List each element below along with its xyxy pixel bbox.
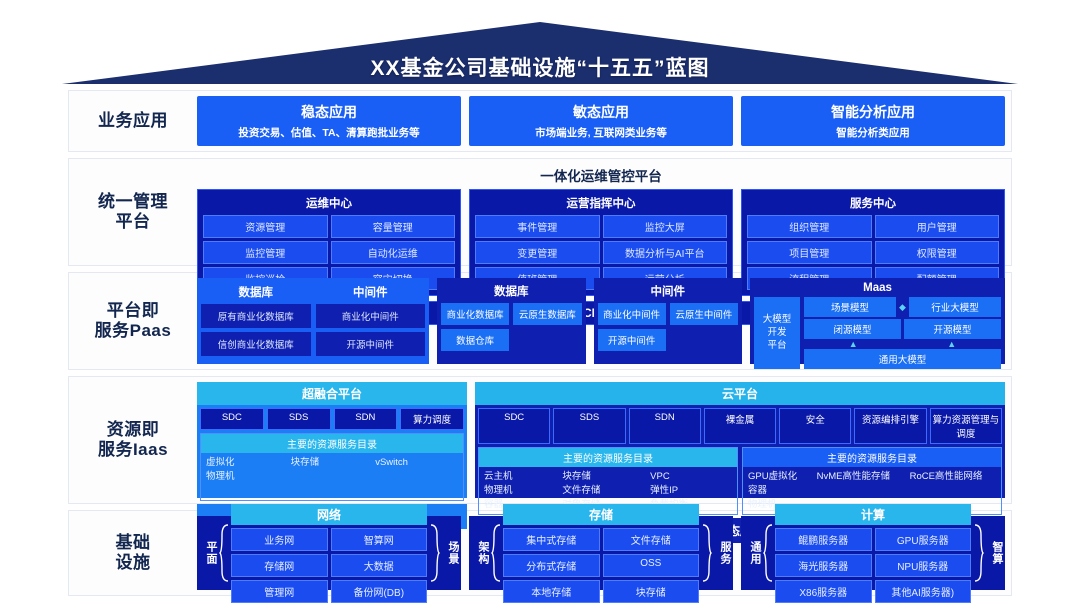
- infra-cells: 集中式存储 文件存储 分布式存储 OSS 本地存储 块存储: [503, 528, 699, 603]
- capability-sds[interactable]: SDS: [553, 408, 625, 444]
- capability-sdn[interactable]: SDN: [629, 408, 701, 444]
- row-label-management: 统一管理 平台: [69, 164, 197, 260]
- paas-item[interactable]: 开源中间件: [316, 332, 426, 356]
- paas-chip[interactable]: 云原生中间件: [670, 303, 738, 325]
- row-paas: 平台即 服务Paas 数据库 原有商业化数据库 信创商业化数据库 中间件 商业化…: [68, 272, 1012, 370]
- maas-dev-line1: 大模型: [763, 314, 792, 327]
- row-infrastructure: 基础 设施 平面 网络 业务网 智算网 存储网: [68, 510, 1012, 596]
- infra-cell[interactable]: 块存储: [603, 580, 700, 603]
- app-subtitle: 市场端业务, 互联网类业务等: [535, 125, 667, 140]
- resource-catalog: 主要的资源服务目录 虚拟化 物理机 块存储 vSwitch: [200, 433, 464, 501]
- infra-title: 存储: [503, 504, 699, 525]
- row-label-line2: 平台: [98, 212, 168, 232]
- app-subtitle: 智能分析类应用: [836, 125, 910, 140]
- infra-card-network: 平面 网络 业务网 智算网 存储网 大数据 管理网 备份网(DB): [197, 516, 461, 590]
- infra-cell[interactable]: 海光服务器: [775, 554, 872, 577]
- infra-cell[interactable]: 其他AI服务器): [875, 580, 972, 603]
- right-brace-icon: [701, 523, 712, 583]
- page-title: XX基金公司基础设施“十五五”蓝图: [62, 52, 1018, 82]
- row-label-line2: 设施: [116, 553, 151, 573]
- catalog-items: 虚拟化 物理机 块存储 vSwitch: [201, 453, 463, 500]
- row-label-line2: 服务Paas: [95, 321, 172, 341]
- left-brace-icon: [762, 523, 773, 583]
- infra-cell[interactable]: 智算网: [331, 528, 428, 551]
- paas-body: 数据库 原有商业化数据库 信创商业化数据库 中间件 商业化中间件 开源中间件 数…: [197, 278, 1005, 364]
- paas-database-traditional: 数据库 原有商业化数据库 信创商业化数据库: [201, 282, 311, 360]
- paas-chip-placeholder: [670, 329, 738, 351]
- catalog-item: 弹性IP: [650, 484, 732, 498]
- capability-compute-scheduling[interactable]: 算力调度: [400, 408, 464, 430]
- app-card-intelligent-analytics[interactable]: 智能分析应用 智能分析类应用: [741, 96, 1005, 146]
- paas-group-title: 中间件: [598, 281, 739, 303]
- catalog-item: 块存储: [291, 456, 370, 470]
- mgmt-cell[interactable]: 监控大屏: [603, 215, 728, 238]
- catalog-item: GPU虚拟化: [748, 470, 811, 484]
- row-label-line1: 基础: [116, 533, 151, 553]
- infra-mid-network: 网络 业务网 智算网 存储网 大数据 管理网 备份网(DB): [231, 504, 427, 603]
- infra-card-compute: 通用 计算 鲲鹏服务器 GPU服务器 海光服务器 NPU服务器 X86服务器 其…: [741, 516, 1005, 590]
- infra-left-label: 通用: [744, 541, 760, 565]
- left-brace-icon: [218, 523, 229, 583]
- paas-chip[interactable]: 数据仓库: [441, 329, 509, 351]
- paas-item[interactable]: 原有商业化数据库: [201, 304, 311, 328]
- infra-cell[interactable]: 集中式存储: [503, 528, 600, 551]
- paas-middleware-cloudnative: 中间件 商业化中间件 云原生中间件 开源中间件: [594, 278, 743, 364]
- left-brace-icon: [490, 523, 501, 583]
- blueprint-page: XX基金公司基础设施“十五五”蓝图 业务应用 稳态应用 投资交易、估值、TA、清…: [0, 0, 1080, 608]
- catalog-item: 容器: [748, 484, 811, 498]
- paas-chip[interactable]: 云原生数据库: [513, 303, 581, 325]
- capability-sdc[interactable]: SDC: [478, 408, 550, 444]
- infra-cell[interactable]: 管理网: [231, 580, 328, 603]
- paas-chip[interactable]: 开源中间件: [598, 329, 666, 351]
- catalog-item: 虚拟化: [206, 456, 285, 470]
- infra-cells: 鲲鹏服务器 GPU服务器 海光服务器 NPU服务器 X86服务器 其他AI服务器…: [775, 528, 971, 603]
- row-label-paas: 平台即 服务Paas: [69, 278, 197, 364]
- row-unified-management: 统一管理 平台 一体化运维管控平台 运维中心 资源管理 容量管理 监控管理 自动…: [68, 158, 1012, 266]
- cloud-platform: 云平台 SDC SDS SDN 裸金属 安全 资源编排引擎 算力资源管理与调度 …: [475, 382, 1005, 498]
- catalog-item: NvME高性能存储: [817, 470, 904, 484]
- row-business-application: 业务应用 稳态应用 投资交易、估值、TA、清算跑批业务等 敏态应用 市场端业务,…: [68, 90, 1012, 152]
- paas-chip[interactable]: 商业化数据库: [441, 303, 509, 325]
- right-brace-icon: [429, 523, 440, 583]
- catalog-head: 主要的资源服务目录: [201, 434, 463, 453]
- capability-row: SDC SDS SDN 裸金属 安全 资源编排引擎 算力资源管理与调度: [475, 405, 1005, 447]
- center-title: 运营指挥中心: [475, 194, 727, 215]
- business-cards: 稳态应用 投资交易、估值、TA、清算跑批业务等 敏态应用 市场端业务, 互联网类…: [197, 96, 1005, 146]
- catalog-wrap: 主要的资源服务目录 虚拟化 物理机 块存储 vSwitch: [197, 433, 467, 504]
- catalog-head: 主要的资源服务目录: [479, 448, 737, 467]
- paas-group-title: 数据库: [441, 281, 582, 303]
- capability-orchestration-engine[interactable]: 资源编排引擎: [854, 408, 926, 444]
- right-brace-icon: [973, 523, 984, 583]
- capability-sds[interactable]: SDS: [267, 408, 331, 430]
- mgmt-cell[interactable]: 变更管理: [475, 241, 600, 264]
- catalog-item: 文件存储: [562, 484, 644, 498]
- management-body: 一体化运维管控平台 运维中心 资源管理 容量管理 监控管理 自动化运维 监控巡检…: [197, 164, 1005, 260]
- infra-title: 网络: [231, 504, 427, 525]
- mgmt-cell[interactable]: 资源管理: [203, 215, 328, 238]
- paas-item[interactable]: 商业化中间件: [316, 304, 426, 328]
- platform-title: 云平台: [475, 382, 1005, 405]
- paas-chip[interactable]: 商业化中间件: [598, 303, 666, 325]
- center-title: 服务中心: [747, 194, 999, 215]
- hyperconverged-platform: 超融合平台 SDC SDS SDN 算力调度 主要的资源服务目录 虚拟化 物理机: [197, 382, 467, 498]
- infrastructure-body: 平面 网络 业务网 智算网 存储网 大数据 管理网 备份网(DB): [197, 516, 1005, 590]
- row-iaas: 资源即 服务Iaas 超融合平台 SDC SDS SDN 算力调度: [68, 376, 1012, 504]
- maas-body: 大模型 开发 平台 场景模型 ◆ 行业大模型: [754, 297, 1001, 369]
- row-label-business: 业务应用: [69, 96, 197, 146]
- infra-cell[interactable]: OSS: [603, 554, 700, 577]
- app-title: 智能分析应用: [831, 102, 915, 122]
- app-title: 敏态应用: [573, 102, 629, 122]
- mgmt-cell[interactable]: 事件管理: [475, 215, 600, 238]
- paas-item[interactable]: 信创商业化数据库: [201, 332, 311, 356]
- maas-title: Maas: [754, 281, 1001, 297]
- maas-uplink-arrows: ▲ ▲: [804, 341, 1001, 347]
- platform-title: 超融合平台: [197, 382, 467, 405]
- infra-cell[interactable]: NPU服务器: [875, 554, 972, 577]
- catalog-item: VPC: [650, 470, 732, 484]
- capability-row: SDC SDS SDN 算力调度: [197, 405, 467, 433]
- mgmt-cell[interactable]: 权限管理: [875, 241, 1000, 264]
- capability-compute-resource-mgmt[interactable]: 算力资源管理与调度: [930, 408, 1002, 444]
- maas-chip-industry-model[interactable]: 行业大模型: [909, 297, 1001, 317]
- paas-chip-placeholder: [513, 329, 581, 351]
- app-card-stable[interactable]: 稳态应用 投资交易、估值、TA、清算跑批业务等: [197, 96, 461, 146]
- maas-dev-platform[interactable]: 大模型 开发 平台: [754, 297, 800, 369]
- app-title: 稳态应用: [301, 102, 357, 122]
- row-label-line1: 平台即: [95, 301, 172, 321]
- catalog-item: RoCE高性能网络: [910, 470, 996, 484]
- catalog-head: 主要的资源服务目录: [743, 448, 1001, 467]
- center-title: 运维中心: [203, 194, 455, 215]
- mgmt-cell[interactable]: 容量管理: [331, 215, 456, 238]
- infra-cell[interactable]: X86服务器: [775, 580, 872, 603]
- row-label-line2: 服务Iaas: [98, 440, 168, 460]
- infra-right-label: 智算: [986, 541, 1002, 565]
- catalog-item: 物理机: [206, 470, 285, 484]
- iaas-body: 超融合平台 SDC SDS SDN 算力调度 主要的资源服务目录 虚拟化 物理机: [197, 382, 1005, 498]
- maas-chip-general-model[interactable]: 通用大模型: [804, 349, 1001, 369]
- infra-cell[interactable]: 备份网(DB): [331, 580, 428, 603]
- paas-chip-grid: 商业化中间件 云原生中间件 开源中间件: [598, 303, 739, 351]
- maas-row-1: 场景模型 ◆ 行业大模型: [804, 297, 1001, 317]
- integrated-ops-platform-title: 一体化运维管控平台: [197, 164, 1005, 189]
- app-card-agile[interactable]: 敏态应用 市场端业务, 互联网类业务等: [469, 96, 733, 146]
- row-label-iaas: 资源即 服务Iaas: [69, 382, 197, 498]
- paas-traditional-group: 数据库 原有商业化数据库 信创商业化数据库 中间件 商业化中间件 开源中间件: [197, 278, 429, 364]
- up-arrow-icon: ▲: [849, 341, 858, 347]
- row-label-line1: 资源即: [98, 420, 168, 440]
- mgmt-cell[interactable]: 项目管理: [747, 241, 872, 264]
- mgmt-cell[interactable]: 监控管理: [203, 241, 328, 264]
- maas-chip-open-model[interactable]: 开源模型: [904, 319, 1001, 339]
- infra-cells: 业务网 智算网 存储网 大数据 管理网 备份网(DB): [231, 528, 427, 603]
- paas-middleware-traditional: 中间件 商业化中间件 开源中间件: [316, 282, 426, 360]
- paas-group-title: 数据库: [201, 282, 311, 304]
- maas-chip-scene-model[interactable]: 场景模型: [804, 297, 896, 317]
- paas-group-title: 中间件: [316, 282, 426, 304]
- catalog-item: 云主机: [484, 470, 556, 484]
- infra-cell[interactable]: GPU服务器: [875, 528, 972, 551]
- capability-sdc[interactable]: SDC: [200, 408, 264, 430]
- infra-cell[interactable]: 大数据: [331, 554, 428, 577]
- paas-maas-panel: Maas 大模型 开发 平台 场景模型 ◆: [750, 278, 1005, 364]
- infra-cell[interactable]: 鲲鹏服务器: [775, 528, 872, 551]
- infra-mid-storage: 存储 集中式存储 文件存储 分布式存储 OSS 本地存储 块存储: [503, 504, 699, 603]
- capability-sdn[interactable]: SDN: [334, 408, 398, 430]
- layer-stack: 业务应用 稳态应用 投资交易、估值、TA、清算跑批业务等 敏态应用 市场端业务,…: [68, 90, 1012, 602]
- row-label-line1: 统一管理: [98, 192, 168, 212]
- mgmt-cell[interactable]: 组织管理: [747, 215, 872, 238]
- mgmt-cell[interactable]: 数据分析与AI平台: [603, 241, 728, 264]
- infra-cell[interactable]: 存储网: [231, 554, 328, 577]
- mgmt-cell[interactable]: 用户管理: [875, 215, 1000, 238]
- infra-mid-compute: 计算 鲲鹏服务器 GPU服务器 海光服务器 NPU服务器 X86服务器 其他AI…: [775, 504, 971, 603]
- infra-card-storage: 架构 存储 集中式存储 文件存储 分布式存储 OSS 本地存储 块存储: [469, 516, 733, 590]
- paas-cloudnative-group: 数据库 商业化数据库 云原生数据库 数据仓库 中间件 商业化中间件 云原生中间件: [437, 278, 742, 364]
- infra-cell[interactable]: 分布式存储: [503, 554, 600, 577]
- infra-cell[interactable]: 文件存储: [603, 528, 700, 551]
- maas-dev-line2: 开发: [763, 327, 792, 340]
- infra-left-label: 平面: [200, 541, 216, 565]
- row-label-infrastructure: 基础 设施: [69, 516, 197, 590]
- catalog-item: 块存储: [562, 470, 644, 484]
- up-arrow-icon: ▲: [947, 341, 956, 347]
- maas-arrow-icon: ◆: [899, 302, 906, 313]
- catalog-item: 物理机: [484, 484, 556, 498]
- infra-right-label: 场景: [442, 541, 458, 565]
- paas-database-cloudnative: 数据库 商业化数据库 云原生数据库 数据仓库: [437, 278, 586, 364]
- infra-cell[interactable]: 业务网: [231, 528, 328, 551]
- capability-security[interactable]: 安全: [779, 408, 851, 444]
- app-subtitle: 投资交易、估值、TA、清算跑批业务等: [238, 125, 419, 140]
- infra-title: 计算: [775, 504, 971, 525]
- maas-dev-line3: 平台: [763, 340, 792, 353]
- maas-row-2: 闭源模型 开源模型: [804, 319, 1001, 339]
- paas-chip-grid: 商业化数据库 云原生数据库 数据仓库: [441, 303, 582, 351]
- infra-right-label: 服务: [714, 541, 730, 565]
- mgmt-cell[interactable]: 自动化运维: [331, 241, 456, 264]
- capability-bare-metal[interactable]: 裸金属: [704, 408, 776, 444]
- maas-chip-closed-model[interactable]: 闭源模型: [804, 319, 901, 339]
- catalog-item: vSwitch: [375, 456, 458, 470]
- roof-banner: XX基金公司基础设施“十五五”蓝图: [62, 22, 1018, 84]
- maas-models: 场景模型 ◆ 行业大模型 闭源模型 开源模型 ▲ ▲: [804, 297, 1001, 369]
- infra-left-label: 架构: [472, 541, 488, 565]
- infra-cell[interactable]: 本地存储: [503, 580, 600, 603]
